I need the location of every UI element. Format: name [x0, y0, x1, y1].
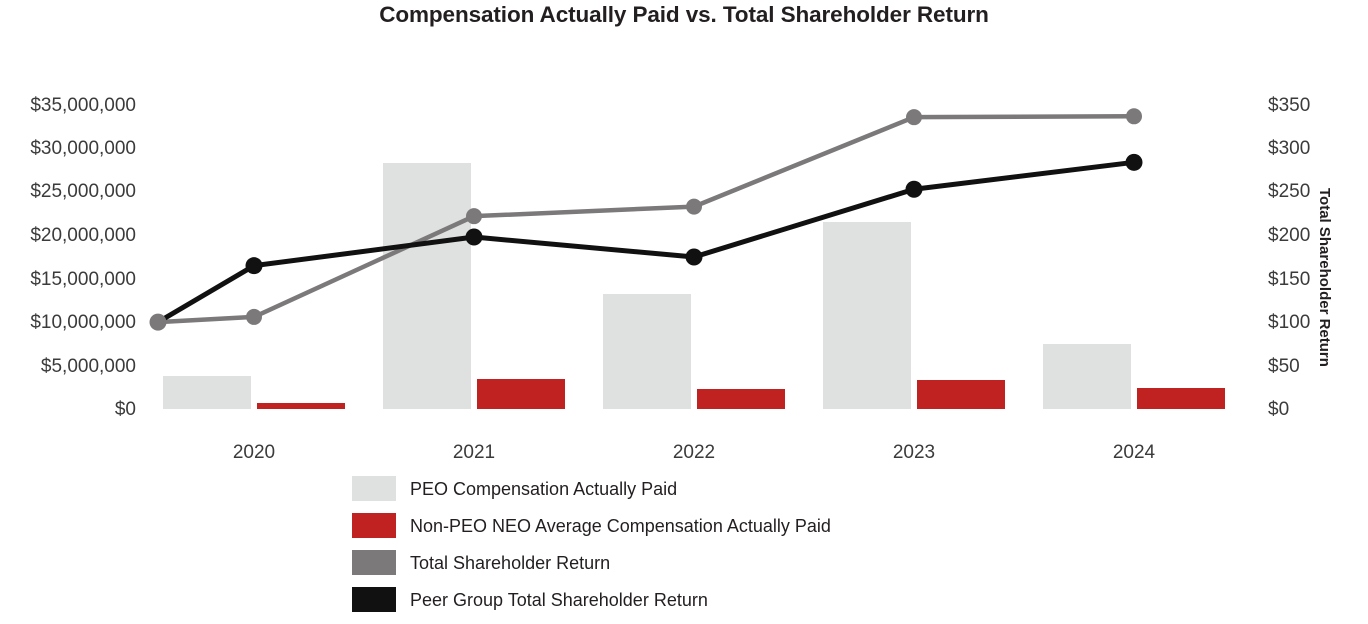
legend-label: PEO Compensation Actually Paid — [410, 480, 677, 498]
legend-label: Total Shareholder Return — [410, 554, 610, 572]
bar-peo-2024[interactable] — [1043, 344, 1131, 409]
x-axis-tick-label-2021: 2021 — [414, 443, 534, 462]
bar-neo-2021[interactable] — [477, 379, 565, 409]
legend-swatch-icon — [352, 587, 396, 612]
compensation-vs-tsr-chart: Compensation Actually Paid vs. Total Sha… — [0, 0, 1368, 620]
bar-neo-2020[interactable] — [257, 403, 345, 409]
legend-swatch-icon — [352, 550, 396, 575]
x-axis-tick-label-2020: 2020 — [194, 443, 314, 462]
bar-neo-2024[interactable] — [1137, 388, 1225, 409]
legend-label: Peer Group Total Shareholder Return — [410, 591, 708, 609]
legend-swatch-icon — [352, 513, 396, 538]
bar-peo-2021[interactable] — [383, 163, 471, 409]
legend-label: Non-PEO NEO Average Compensation Actuall… — [410, 517, 831, 535]
x-axis-tick-label-2023: 2023 — [854, 443, 974, 462]
legend-item-3[interactable]: Peer Group Total Shareholder Return — [352, 587, 831, 612]
x-axis-tick-label-2024: 2024 — [1074, 443, 1194, 462]
x-axis-tick-label-2022: 2022 — [634, 443, 754, 462]
legend-swatch-icon — [352, 476, 396, 501]
legend-item-2[interactable]: Total Shareholder Return — [352, 550, 831, 575]
chart-legend: PEO Compensation Actually PaidNon-PEO NE… — [352, 476, 831, 624]
bar-peo-2022[interactable] — [603, 294, 691, 409]
legend-item-0[interactable]: PEO Compensation Actually Paid — [352, 476, 831, 501]
legend-item-1[interactable]: Non-PEO NEO Average Compensation Actuall… — [352, 513, 831, 538]
bar-peo-2023[interactable] — [823, 222, 911, 409]
bar-neo-2022[interactable] — [697, 389, 785, 409]
bar-neo-2023[interactable] — [917, 380, 1005, 409]
bar-peo-2020[interactable] — [163, 376, 251, 409]
